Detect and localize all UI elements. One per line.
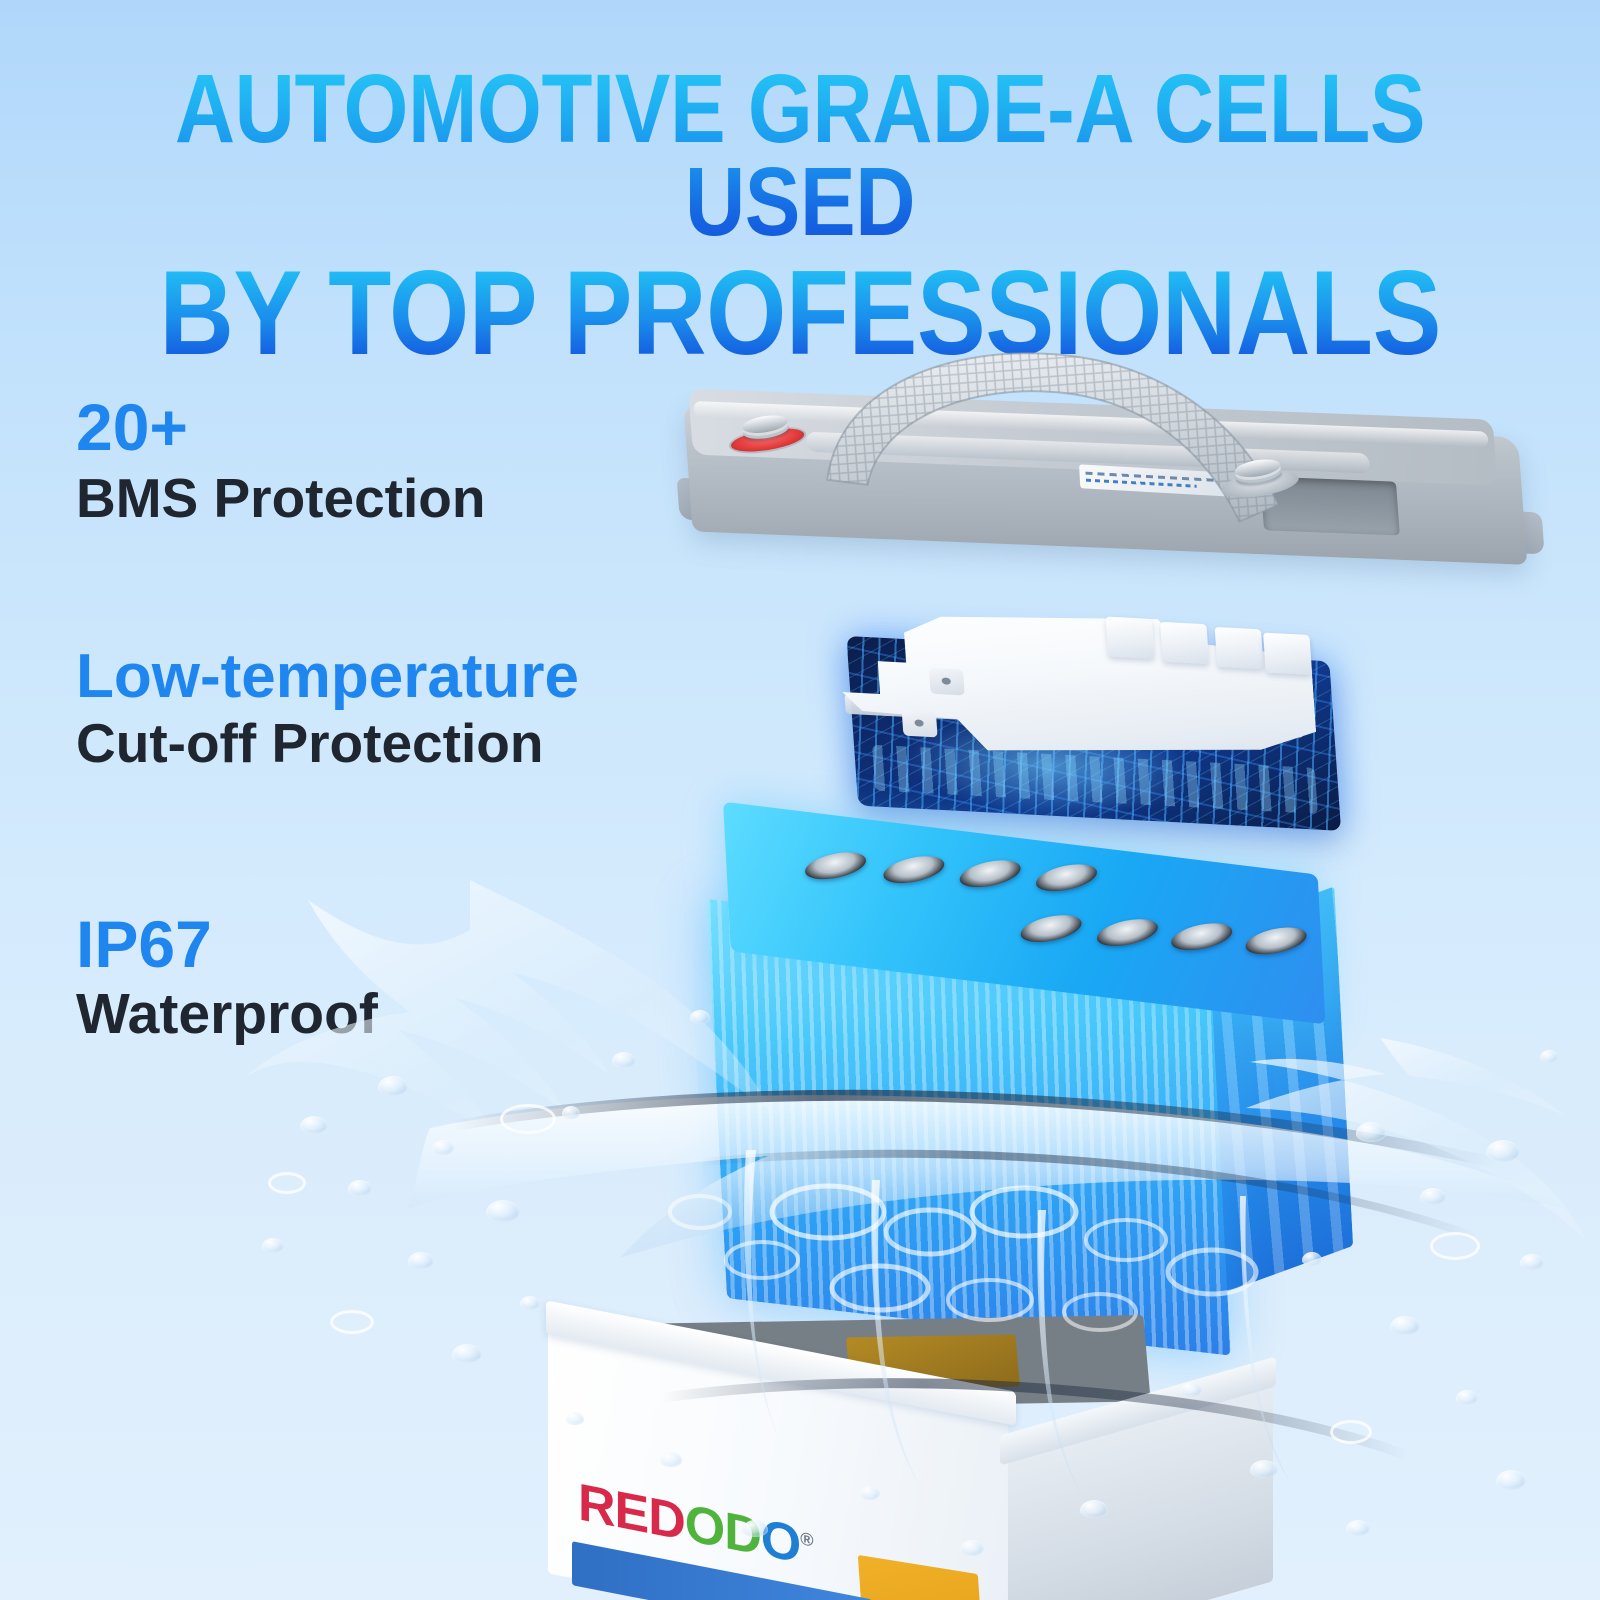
battery-outer-case: REDODO®	[548, 1310, 1348, 1600]
feature-bms-protection: 20+ BMS Protection	[76, 393, 485, 528]
bms-fin-4	[1263, 633, 1312, 675]
water-ripple	[330, 1310, 374, 1334]
feature-3-headline: IP67	[76, 910, 378, 979]
water-ripple	[500, 1104, 556, 1134]
feature-1-headline: 20+	[76, 393, 485, 462]
bms-circuit-board	[837, 583, 1363, 863]
bms-screw-tab-1	[929, 668, 965, 696]
water-ripple	[1430, 1232, 1480, 1260]
water-droplet	[612, 1052, 636, 1068]
water-droplet	[408, 1252, 434, 1269]
product-stage: REDODO®	[0, 0, 1600, 1600]
water-droplet	[432, 1140, 454, 1155]
registered-trademark-icon: ®	[800, 1528, 812, 1550]
water-ripple	[268, 1172, 306, 1194]
brand-logo-red: RED	[578, 1473, 685, 1552]
bms-pcb-pads	[872, 745, 1318, 814]
water-droplet	[562, 1106, 580, 1119]
water-droplet	[1346, 1520, 1370, 1536]
water-droplet	[520, 1296, 540, 1310]
feature-2-subline: Cut-off Protection	[76, 713, 579, 774]
water-droplet	[262, 1238, 284, 1253]
water-droplet	[1420, 1188, 1446, 1205]
battery-lid-with-handle	[651, 312, 1568, 647]
product-feature-poster: AUTOMOTIVE GRADE-A CELLS USED AUTOMOTIVE…	[0, 0, 1600, 1600]
feature-low-temperature: Low-temperature Cut-off Protection	[76, 645, 579, 774]
feature-ip67-waterproof: IP67 Waterproof	[76, 910, 378, 1045]
carry-strap-icon	[791, 325, 1344, 564]
bms-fin-1	[1106, 617, 1155, 659]
water-droplet	[1540, 1050, 1558, 1063]
water-droplet	[1390, 1316, 1420, 1335]
water-droplet	[452, 1344, 482, 1363]
feature-2-headline: Low-temperature	[76, 645, 579, 709]
water-droplet	[300, 1116, 328, 1134]
water-droplet	[1456, 1390, 1478, 1405]
water-crest-right-2	[1380, 1038, 1566, 1116]
brand-logo-o: O	[761, 1509, 800, 1575]
feature-3-subline: Waterproof	[76, 983, 378, 1046]
water-droplet	[1496, 1470, 1526, 1490]
brand-logo-od: OD	[685, 1494, 761, 1567]
bms-screw-tab-2	[902, 710, 938, 738]
water-droplet	[1486, 1140, 1520, 1162]
water-droplet	[378, 1076, 408, 1096]
bms-fin-2	[1160, 622, 1209, 664]
water-droplet	[486, 1200, 520, 1222]
label-yellow-block	[858, 1555, 986, 1600]
water-droplet	[1520, 1254, 1544, 1270]
feature-1-subline: BMS Protection	[76, 468, 485, 529]
water-droplet	[348, 1180, 372, 1196]
bms-fin-3	[1215, 627, 1264, 669]
